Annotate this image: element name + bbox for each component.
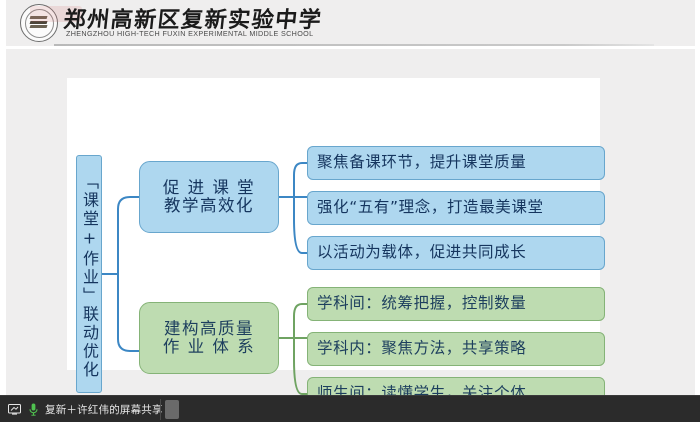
leaf-teaching-2[interactable]: 强化“五有”理念，打造最美课堂 [307,191,605,225]
microphone-icon[interactable] [29,403,38,416]
node-branch-homework-line1: 建构高质量 [163,320,255,338]
slide-header: 郑州高新区复新实验中学 ZHENGZHOU HIGH-TECH FUXIN EX… [6,0,695,46]
node-branch-teaching[interactable]: 促 进 课 堂 教学高效化 [139,161,279,233]
mindmap-diagram: 「课堂+作业」联动优化 促 进 课 堂 教学高效化 建构高质量 作 业 体 系 … [6,49,695,395]
screen-share-statusbar: 复新＋许红伟的屏幕共享 [0,395,700,422]
slide-body: 「课堂+作业」联动优化 促 进 课 堂 教学高效化 建构高质量 作 业 体 系 … [6,49,695,395]
leaf-homework-2[interactable]: 学科内：聚焦方法，共享策略 [307,332,605,366]
leaf-homework-1[interactable]: 学科间：统筹把握，控制数量 [307,287,605,321]
node-branch-homework-line2: 作 业 体 系 [163,338,255,356]
leaf-teaching-3[interactable]: 以活动为载体，促进共同成长 [307,236,605,270]
node-branch-teaching-line2: 教学高效化 [163,197,255,215]
screen-share-icon[interactable] [8,404,21,415]
node-branch-teaching-line1: 促 进 课 堂 [163,179,255,197]
leaf-teaching-1[interactable]: 聚焦备课环节，提升课堂质量 [307,146,605,180]
statusbar-divider [160,399,161,420]
statusbar-thumbnail[interactable] [165,400,179,419]
screen-share-viewport: 郑州高新区复新实验中学 ZHENGZHOU HIGH-TECH FUXIN EX… [0,0,700,422]
share-status-text: 复新＋许红伟的屏幕共享 [45,402,163,417]
node-root[interactable]: 「课堂+作业」联动优化 [76,155,102,393]
school-name-en: ZHENGZHOU HIGH-TECH FUXIN EXPERIMENTAL M… [66,29,313,38]
node-branch-homework[interactable]: 建构高质量 作 业 体 系 [139,302,279,374]
right-gutter [695,0,700,395]
